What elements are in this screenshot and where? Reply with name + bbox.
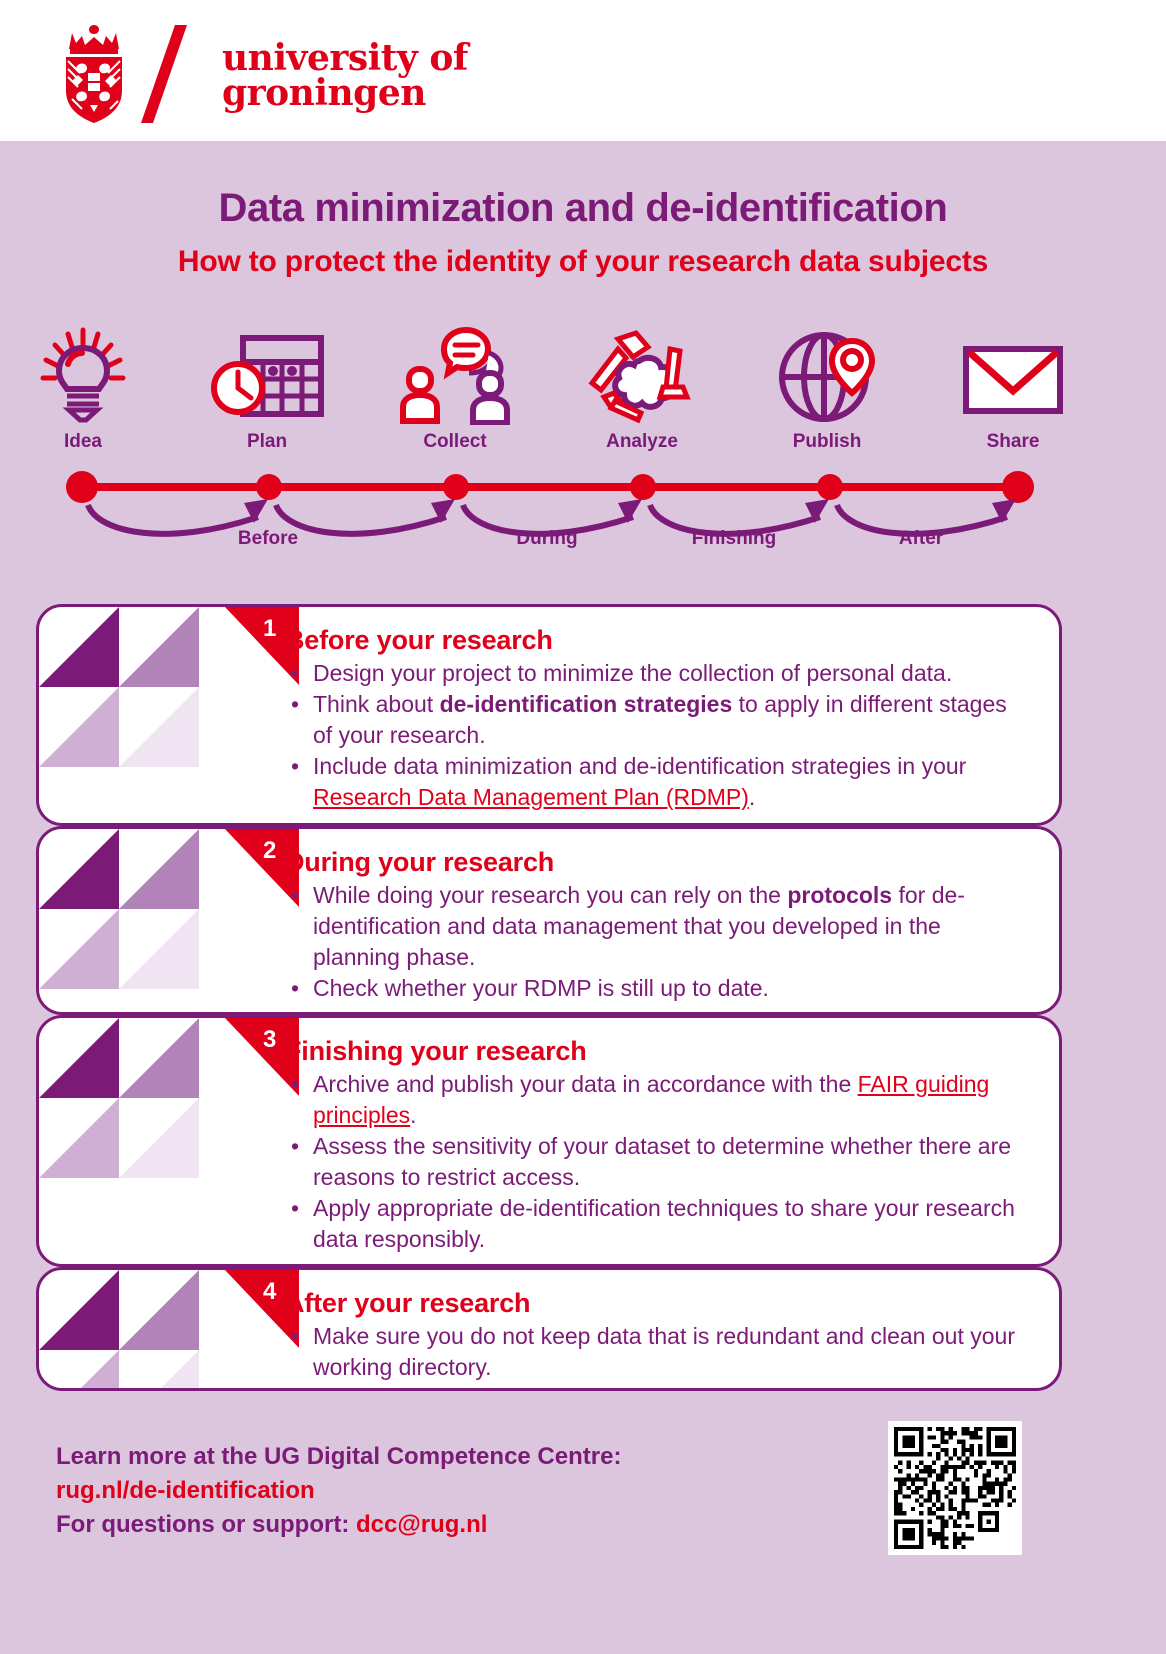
bullet-text: While doing your research you can rely o… [313, 882, 787, 908]
bullet-text: Include data minimization and de-identif… [313, 753, 966, 779]
timeline-stage-label: Collect [380, 431, 530, 453]
footer-email-link[interactable]: dcc@rug.nl [356, 1511, 487, 1538]
timeline-phase-during: During [467, 528, 627, 550]
card-bullet: Assess the sensitivity of your dataset t… [285, 1131, 1031, 1193]
card-decoration [39, 1270, 249, 1388]
footer-learn-more: Learn more at the UG Digital Competence … [56, 1440, 816, 1474]
card-title: After your research [285, 1288, 1031, 1319]
bullet-emphasis: de-identification strategies [440, 691, 733, 717]
card-before-your-research[interactable]: 1 Before your research Design your proje… [36, 604, 1062, 826]
card-bullet: Think about de-identification strategies… [285, 689, 1031, 751]
timeline-stage-publish: Publish [752, 325, 902, 453]
card-bullet-list: Design your project to minimize the coll… [285, 658, 1031, 813]
timeline-stage-idea: Idea [8, 325, 158, 453]
bullet-text: Apply appropriate de-identification tech… [313, 1195, 1015, 1252]
timeline-phase-finishing: Finishing [654, 528, 814, 550]
card-bullet: Include data minimization and de-identif… [285, 751, 1031, 813]
bullet-text: . [410, 1102, 416, 1128]
card-during-your-research[interactable]: 2 During your research While doing your … [36, 826, 1062, 1015]
logo-line-1: university of [222, 41, 468, 76]
card-decoration [39, 607, 249, 823]
card-title: Before your research [285, 625, 1031, 656]
envelope-icon [938, 325, 1088, 425]
bullet-text: Think about [313, 691, 440, 717]
lightbulb-icon [8, 325, 158, 425]
timeline-stage-plan: Plan [192, 325, 342, 453]
bullet-emphasis: protocols [787, 882, 892, 908]
globe-pin-icon [752, 325, 902, 425]
footer: Learn more at the UG Digital Competence … [56, 1440, 816, 1542]
card-bullet-list: Make sure you do not keep data that is r… [285, 1321, 1031, 1383]
bullet-text: Make sure you do not keep data that is r… [313, 1323, 1015, 1380]
page-subtitle: How to protect the identity of your rese… [0, 245, 1166, 279]
inline-link[interactable]: Research Data Management Plan (RDMP) [313, 784, 749, 810]
research-lifecycle-timeline: Idea [0, 325, 1166, 575]
timeline-phase-after: After [841, 528, 1001, 550]
timeline-stage-label: Analyze [567, 431, 717, 453]
timeline-stage-analyze: Analyze [567, 325, 717, 453]
timeline-stage-label: Idea [8, 431, 158, 453]
hammer-tools-icon [567, 325, 717, 425]
card-title: During your research [285, 847, 1031, 878]
calendar-clock-icon [192, 325, 342, 425]
card-bullet: Check whether your RDMP is still up to d… [285, 973, 1031, 1004]
card-decoration [39, 829, 249, 1012]
qr-code[interactable] [888, 1421, 1022, 1555]
timeline-phase-before: Before [188, 528, 348, 550]
card-number: 3 [263, 1026, 276, 1054]
card-bullet: While doing your research you can rely o… [285, 880, 1031, 973]
bullet-text: Assess the sensitivity of your dataset t… [313, 1133, 1011, 1190]
bullet-text: . [749, 784, 755, 810]
card-title: Finishing your research [285, 1036, 1031, 1067]
timeline-stage-label: Plan [192, 431, 342, 453]
people-speech-icon [380, 325, 530, 425]
footer-support-label: For questions or support: [56, 1511, 356, 1538]
bullet-text: Design your project to minimize the coll… [313, 660, 952, 686]
card-number: 2 [263, 837, 276, 865]
logo-wordmark: university of groningen [222, 41, 468, 111]
card-number: 1 [263, 615, 276, 643]
card-after-your-research[interactable]: 4 After your research Make sure you do n… [36, 1267, 1062, 1391]
card-bullet-list: Archive and publish your data in accorda… [285, 1069, 1031, 1255]
timeline-stage-collect: Collect [380, 325, 530, 453]
card-bullet: Apply appropriate de-identification tech… [285, 1193, 1031, 1255]
card-finishing-your-research[interactable]: 3 Finishing your research Archive and pu… [36, 1015, 1062, 1267]
footer-url-link[interactable]: rug.nl/de-identification [56, 1474, 816, 1508]
bullet-text: Archive and publish your data in accorda… [313, 1071, 858, 1097]
groningen-crest-icon [58, 21, 130, 123]
timeline-rail [0, 465, 1166, 575]
qr-code-icon [894, 1427, 1016, 1549]
card-decoration [39, 1018, 249, 1264]
bullet-text: Check whether your RDMP is still up to d… [313, 975, 769, 1001]
logo-slash-icon [141, 25, 187, 123]
card-bullet-list: While doing your research you can rely o… [285, 880, 1031, 1004]
card-bullet: Make sure you do not keep data that is r… [285, 1321, 1031, 1383]
timeline-stage-label: Publish [752, 431, 902, 453]
timeline-stage-share: Share [938, 325, 1088, 453]
card-bullet: Archive and publish your data in accorda… [285, 1069, 1031, 1131]
logo-line-2: groningen [222, 76, 468, 111]
logo-band: university of groningen [0, 0, 1166, 141]
card-bullet: Design your project to minimize the coll… [285, 658, 1031, 689]
card-number: 4 [263, 1278, 276, 1306]
poster: university of groningen Data minimizatio… [0, 0, 1166, 1654]
page-title: Data minimization and de-identification [0, 186, 1166, 231]
timeline-stage-label: Share [938, 431, 1088, 453]
